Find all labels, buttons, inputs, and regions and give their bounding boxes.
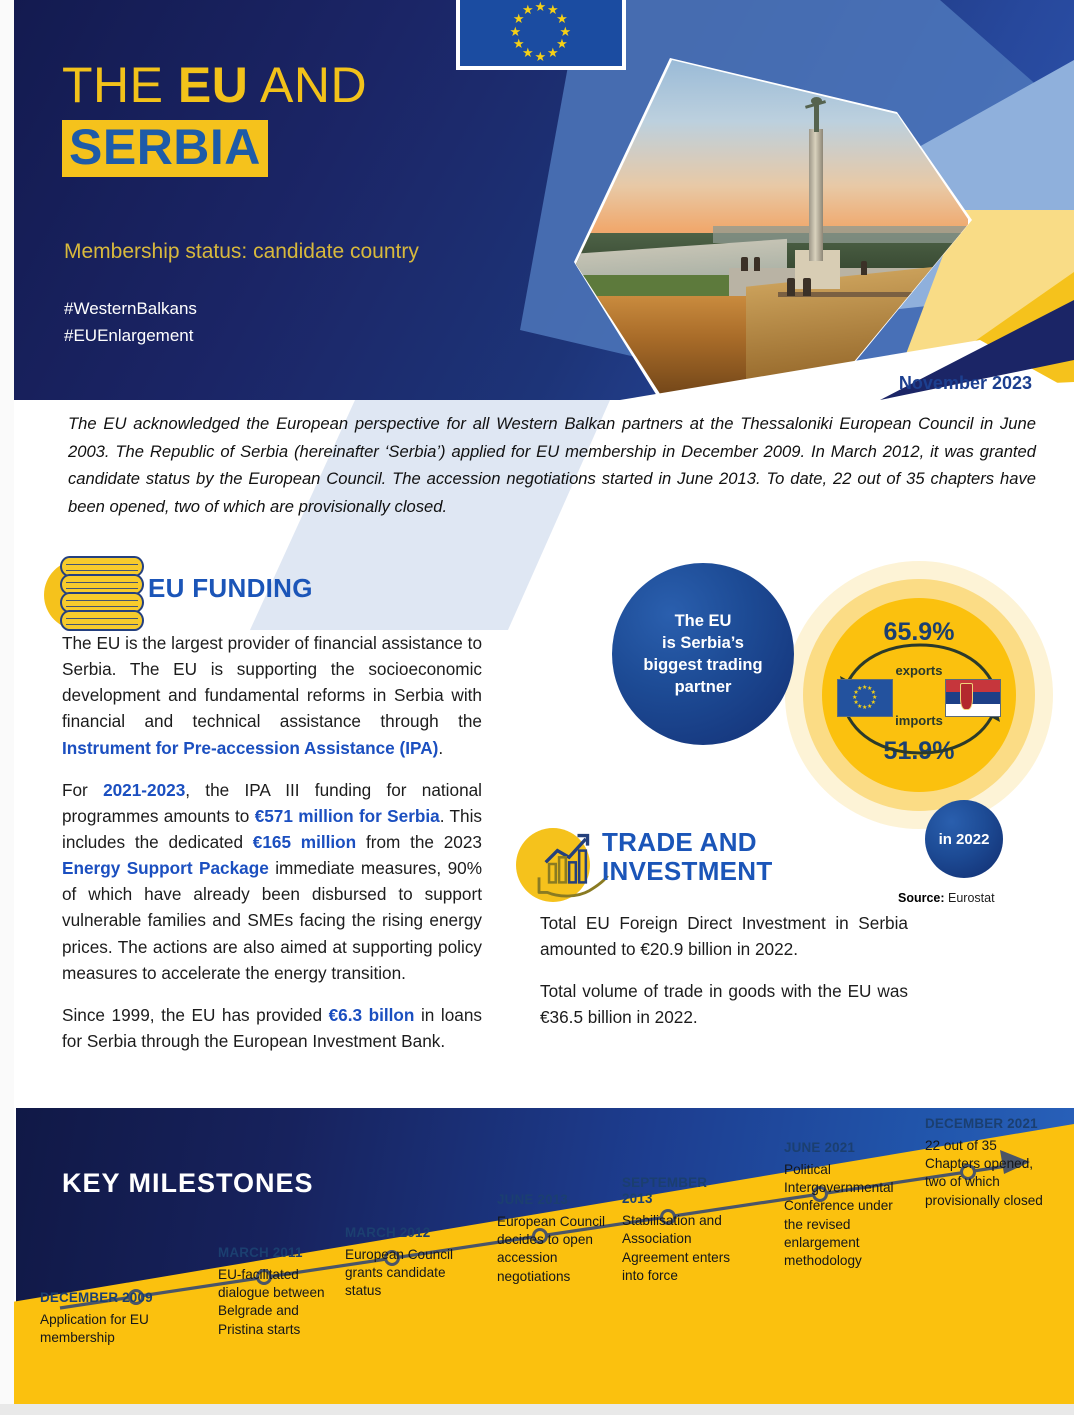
biggest-trading-partner-bubble: The EU is Serbia’s biggest trading partn…: [612, 563, 794, 745]
title-and: AND: [248, 57, 367, 113]
timeline-milestone: SEPTEMBER 2013Stabilisation and Associat…: [622, 1175, 734, 1285]
milestone-text: Application for EU membership: [40, 1311, 170, 1347]
milestone-date: DECEMBER 2009: [40, 1290, 170, 1306]
infographic-page: ★★★★★★★★★★★★ THE EU AND SERBIA Membershi…: [0, 0, 1074, 1415]
timeline-milestone: JUNE 2021Political Intergovernmental Con…: [784, 1140, 912, 1270]
eu-funding-title: EU FUNDING: [148, 573, 313, 604]
key-milestones-section: KEY MILESTONES DECEMBER 2009Application …: [0, 1108, 1074, 1415]
page-left-edge: [0, 0, 14, 1415]
funding-paragraph-2: For 2021-2023, the IPA III funding for n…: [62, 777, 482, 986]
ti-paragraph-1: Total EU Foreign Direct Investment in Se…: [540, 910, 908, 962]
hashtags: #WesternBalkans #EUEnlargement: [64, 295, 197, 349]
eu-funding-body: The EU is the largest provider of financ…: [62, 630, 482, 1070]
page-title: THE EU AND SERBIA: [62, 58, 367, 177]
timeline-milestone: MARCH 2012European Council grants candid…: [345, 1225, 463, 1301]
intro-paragraph: The EU acknowledged the European perspec…: [68, 410, 1036, 520]
trade-circle-diagram: The EU is Serbia’s biggest trading partn…: [600, 555, 1040, 835]
hashtag-eu-enlargement: #EUEnlargement: [64, 322, 197, 349]
milestone-date: JUNE 2013: [497, 1192, 609, 1208]
hashtag-western-balkans: #WesternBalkans: [64, 295, 197, 322]
title-eu: EU: [178, 57, 248, 113]
timeline-milestone: DECEMBER 2009Application for EU membersh…: [40, 1290, 170, 1347]
membership-status: Membership status: candidate country: [64, 240, 419, 264]
milestone-text: European Council decides to open accessi…: [497, 1213, 609, 1286]
milestone-text: Stabilisation and Association Agreement …: [622, 1212, 734, 1285]
title-serbia: SERBIA: [62, 120, 268, 177]
milestone-text: Political Intergovernmental Conference u…: [784, 1161, 912, 1270]
milestone-text: EU-facilitated dialogue between Belgrade…: [218, 1266, 330, 1339]
header-banner: ★★★★★★★★★★★★ THE EU AND SERBIA Membershi…: [0, 0, 1074, 400]
year-badge: in 2022: [925, 800, 1003, 878]
milestone-date: SEPTEMBER 2013: [622, 1175, 734, 1207]
publication-date: November 2023: [899, 373, 1032, 394]
ti-title-line2: INVESTMENT: [602, 857, 773, 886]
timeline-milestone: JUNE 2013European Council decides to ope…: [497, 1192, 609, 1286]
title-the: THE: [62, 57, 178, 113]
coins-stack-icon: [44, 554, 154, 634]
funding-paragraph-1: The EU is the largest provider of financ…: [62, 630, 482, 761]
milestone-date: MARCH 2012: [345, 1225, 463, 1241]
trade-investment-body: Total EU Foreign Direct Investment in Se…: [540, 910, 908, 1047]
eu-flag-icon: ★★★★★★★★★★★★: [456, 0, 626, 70]
milestone-text: European Council grants candidate status: [345, 1246, 463, 1301]
ti-paragraph-2: Total volume of trade in goods with the …: [540, 978, 908, 1030]
eu-flag-icon: ★★★★★★★★★★★★: [837, 679, 893, 717]
timeline-milestone: MARCH 2011EU-facilitated dialogue betwee…: [218, 1245, 330, 1339]
milestone-date: MARCH 2011: [218, 1245, 330, 1261]
serbia-flag-icon: [945, 679, 1001, 717]
trade-investment-title: TRADE AND INVESTMENT: [602, 828, 773, 886]
funding-paragraph-3: Since 1999, the EU has provided €6.3 bil…: [62, 1002, 482, 1054]
timeline-milestone: DECEMBER 202122 out of 35 Chapters opene…: [925, 1116, 1053, 1210]
milestone-text: 22 out of 35 Chapters opened, two of whi…: [925, 1137, 1053, 1210]
ti-title-line1: TRADE AND: [602, 828, 773, 857]
page-bottom-bar: [0, 1404, 1074, 1415]
milestone-date: JUNE 2021: [784, 1140, 912, 1156]
milestone-date: DECEMBER 2021: [925, 1116, 1053, 1132]
source-note: Source: Eurostat: [898, 891, 995, 905]
